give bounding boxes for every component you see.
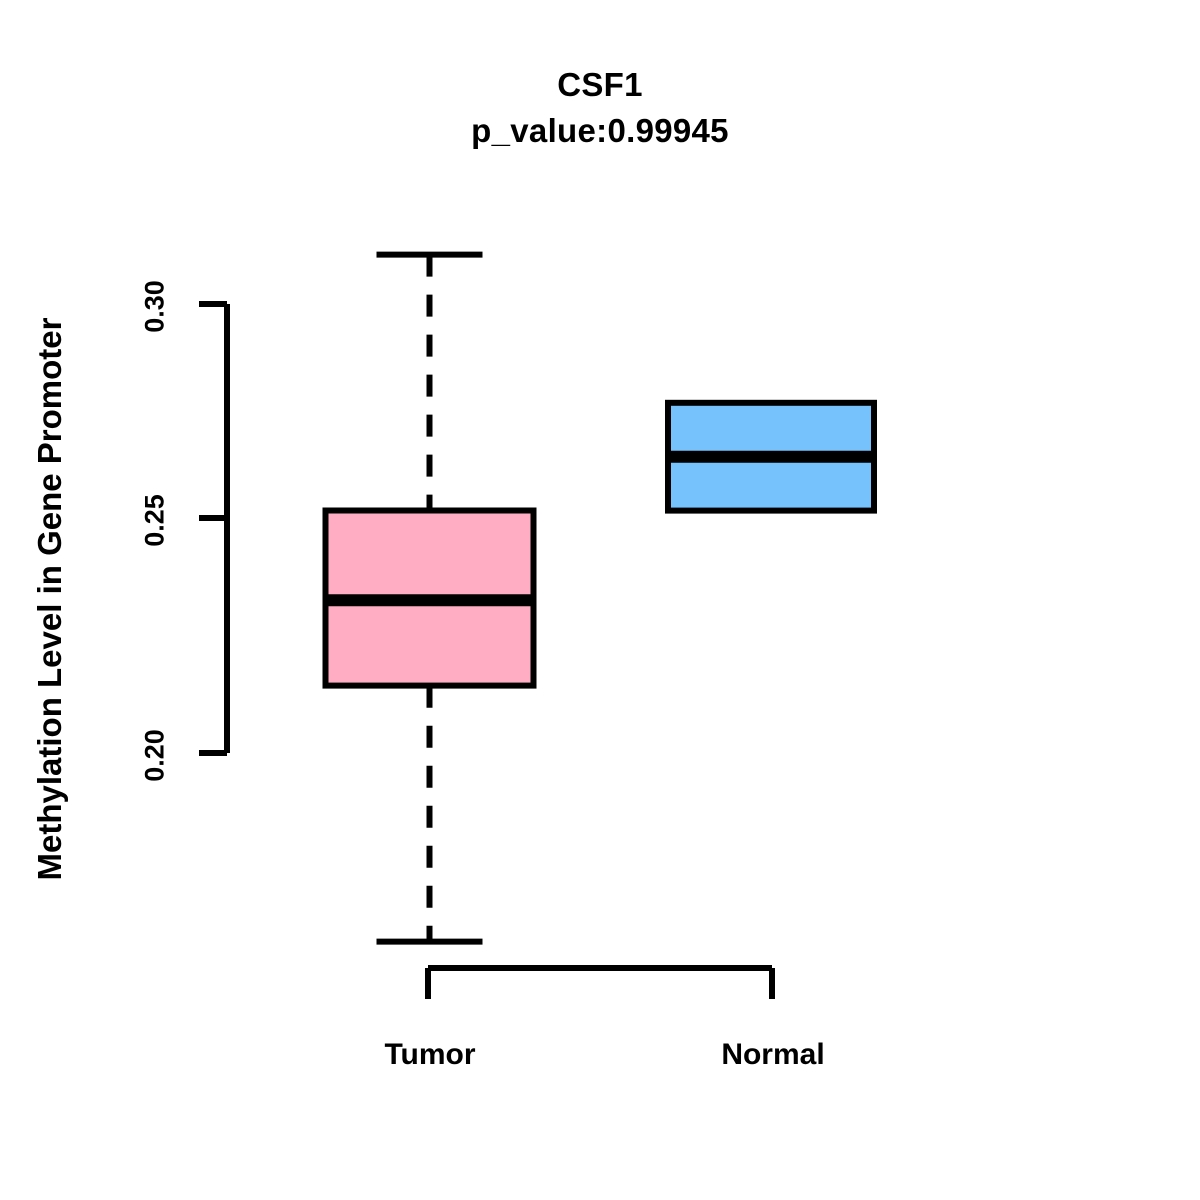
x-axis	[428, 968, 772, 999]
box-group-normal	[668, 403, 874, 511]
boxplot-figure: CSF1 p_value:0.99945 Methylation Level i…	[0, 0, 1200, 1200]
plot-canvas	[0, 0, 1200, 1200]
box-group-tumor	[326, 255, 534, 942]
y-axis	[199, 304, 227, 753]
